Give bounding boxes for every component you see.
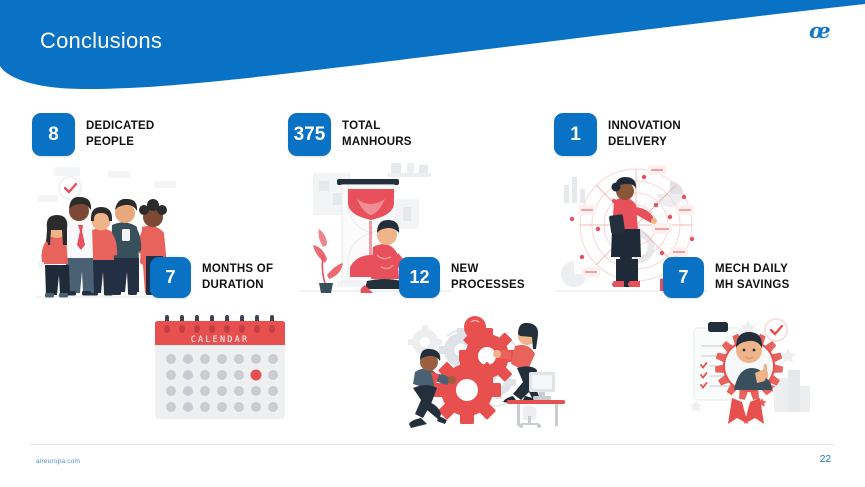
stat-innovation-delivery: 1 INNOVATION DELIVERY <box>554 113 681 156</box>
stat-dedicated-people: 8 DEDICATED PEOPLE <box>32 113 154 156</box>
gears-teamwork-illustration <box>395 310 565 428</box>
stat-value-badge: 7 <box>150 257 191 298</box>
stat-label: MONTHS OF DURATION <box>202 262 273 294</box>
calendar-caption: CALENDAR <box>191 335 250 345</box>
stat-label: NEW PROCESSES <box>451 262 525 294</box>
stat-label: DEDICATED PEOPLE <box>86 119 154 151</box>
stat-new-processes: 12 NEW PROCESSES <box>399 257 525 298</box>
stat-label: TOTAL MANHOURS <box>342 119 412 151</box>
stat-mech-daily-savings: 7 MECH DAILY MH SAVINGS <box>663 257 790 298</box>
svg-text:œ: œ <box>809 18 830 43</box>
footer-url[interactable]: aireuropa.com <box>36 458 80 465</box>
page-number: 22 <box>820 454 831 465</box>
stat-months-duration: 7 MONTHS OF DURATION <box>150 257 273 298</box>
stat-value-badge: 1 <box>554 113 597 156</box>
calendar-highlighted-day <box>251 370 262 381</box>
footer-divider <box>30 444 835 445</box>
ae-monogram-icon: œ <box>809 18 839 44</box>
page-title: Conclusions <box>40 28 162 54</box>
stat-value-badge: 8 <box>32 113 75 156</box>
stat-value-badge: 375 <box>288 113 331 156</box>
air-europa-logo: œ <box>809 18 839 50</box>
stat-total-manhours: 375 TOTAL MANHOURS <box>288 113 412 156</box>
stat-value-badge: 12 <box>399 257 440 298</box>
stat-label: INNOVATION DELIVERY <box>608 119 681 151</box>
stat-value-badge: 7 <box>663 257 704 298</box>
calendar-illustration: CALENDAR <box>145 315 295 427</box>
stat-label: MECH DAILY MH SAVINGS <box>715 262 790 294</box>
award-ribbon-illustration <box>678 312 818 428</box>
